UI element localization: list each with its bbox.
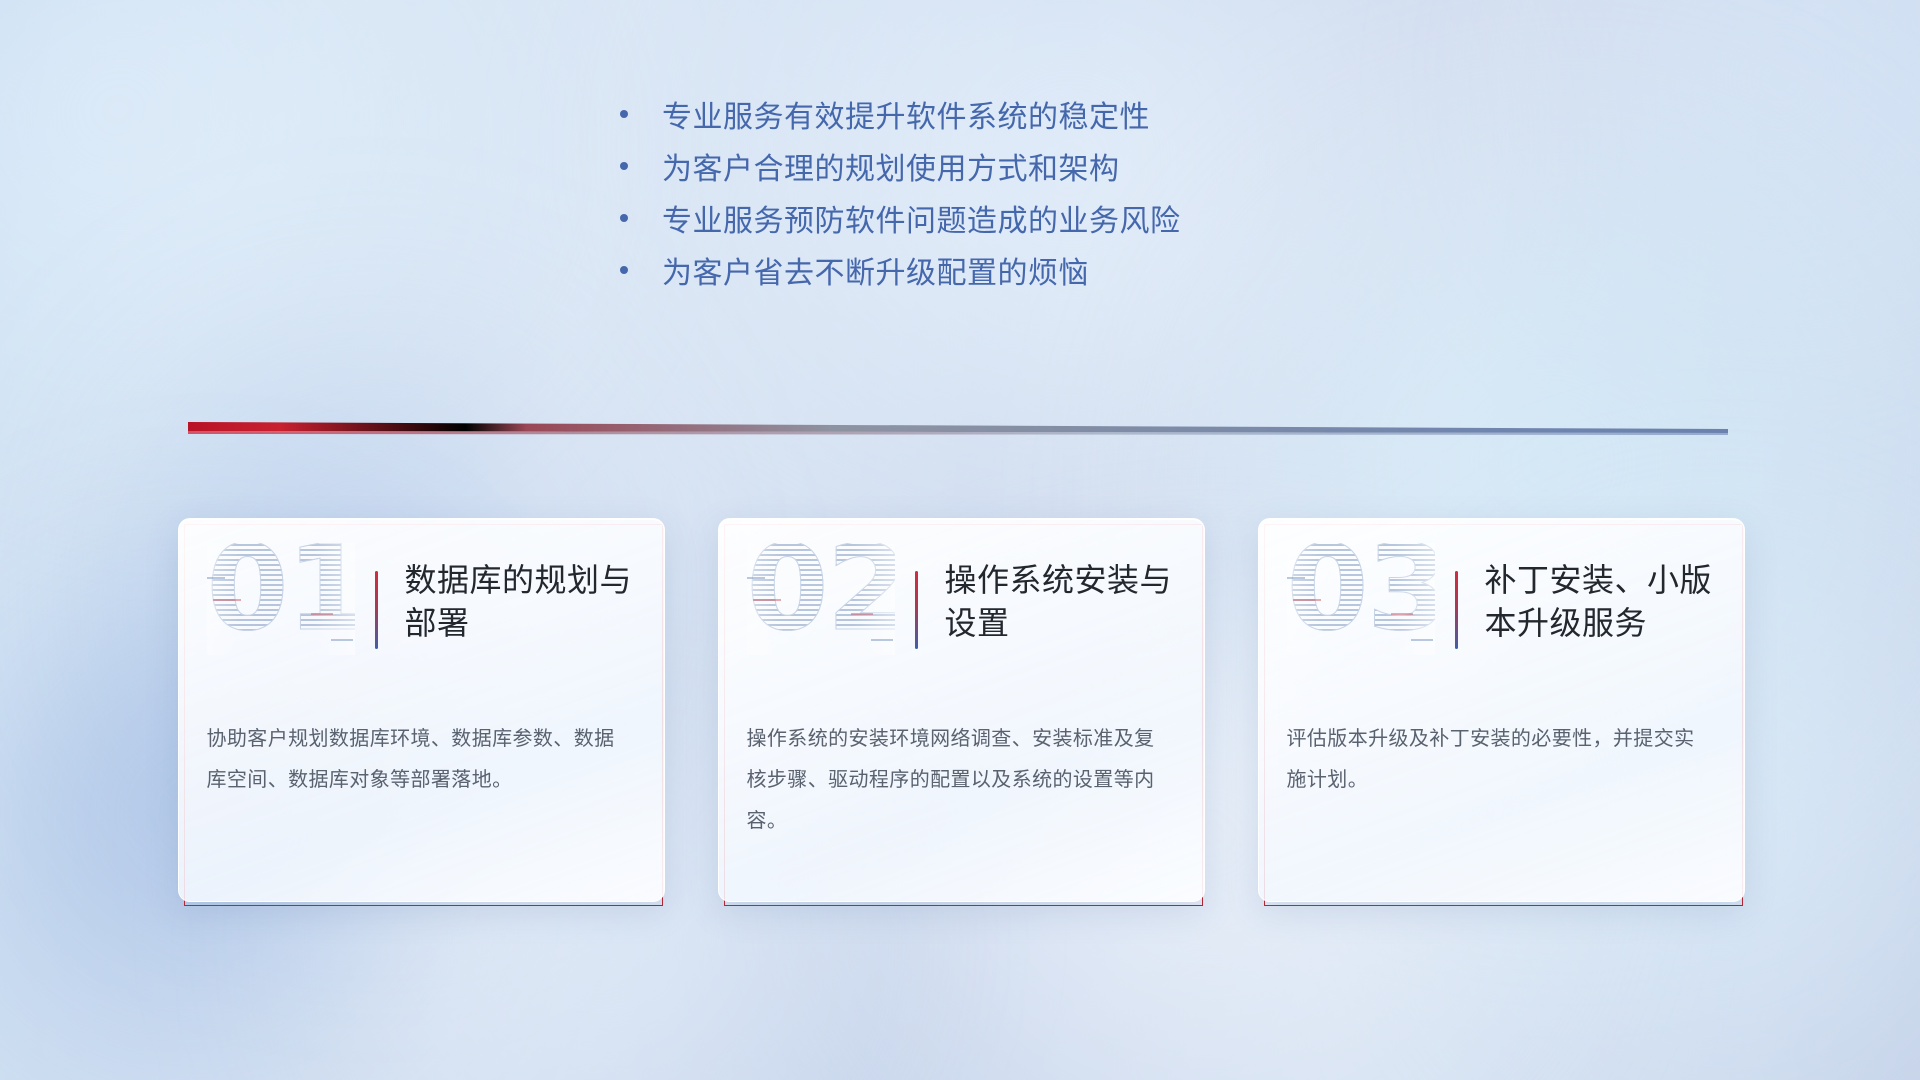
card-title: 数据库的规划与部署 [405,559,645,645]
number-tick-mark [871,639,893,641]
bullet-dot-icon [620,162,628,170]
card-header: 03 补丁安装、小版本升级服务 [1259,519,1744,705]
card-header: 02 操作系统安装与设置 [719,519,1204,705]
card-surface: 02 操作系统安装与设置 操作系统的安装环境网络调查、安装标准及复核步骤、驱动程… [718,518,1205,902]
card-number-text: 03 [1287,543,1435,647]
number-tick-mark [311,613,333,615]
card-number-watermark: 02 [747,543,895,655]
card-title-rule [915,571,918,649]
card-description: 操作系统的安装环境网络调查、安装标准及复核步骤、驱动程序的配置以及系统的设置等内… [747,719,1165,842]
service-card-list: 01 数据库的规划与部署 协助客户规划数据库环境、数据库参数、数据库空间、数据库… [0,518,1920,906]
number-tick-mark [1293,599,1321,601]
card-number-text: 02 [747,543,895,647]
card-number-watermark: 03 [1287,543,1435,655]
card-surface: 01 数据库的规划与部署 协助客户规划数据库环境、数据库参数、数据库空间、数据库… [178,518,665,902]
number-tick-mark [213,599,241,601]
list-item: 专业服务有效提升软件系统的稳定性 [620,88,1300,140]
gradient-wedge-divider [188,420,1728,444]
number-tick-mark [851,613,873,615]
number-tick-mark [207,577,225,579]
bullet-text: 为客户省去不断升级配置的烦恼 [662,248,1089,292]
list-item: 为客户合理的规划使用方式和架构 [620,140,1300,192]
service-card[interactable]: 01 数据库的规划与部署 协助客户规划数据库环境、数据库参数、数据库空间、数据库… [178,518,663,906]
bullet-dot-icon [620,110,628,118]
card-description: 评估版本升级及补丁安装的必要性，并提交实施计划。 [1287,719,1705,801]
benefits-bullet-list: 专业服务有效提升软件系统的稳定性 为客户合理的规划使用方式和架构 专业服务预防软… [0,88,1920,296]
card-title-rule [375,571,378,649]
bullet-dot-icon [620,214,628,222]
bullet-text: 专业服务有效提升软件系统的稳定性 [662,92,1150,136]
card-number-text: 01 [207,543,355,647]
card-surface: 03 补丁安装、小版本升级服务 评估版本升级及补丁安装的必要性，并提交实施计划。 [1258,518,1745,902]
bullet-dot-icon [620,266,628,274]
service-card[interactable]: 03 补丁安装、小版本升级服务 评估版本升级及补丁安装的必要性，并提交实施计划。 [1258,518,1743,906]
divider-shape-icon [188,420,1728,444]
card-title: 补丁安装、小版本升级服务 [1485,559,1725,645]
card-title: 操作系统安装与设置 [945,559,1185,645]
number-tick-mark [1411,639,1433,641]
service-card[interactable]: 02 操作系统安装与设置 操作系统的安装环境网络调查、安装标准及复核步骤、驱动程… [718,518,1203,906]
bullet-text: 专业服务预防软件问题造成的业务风险 [662,196,1181,240]
list-item: 专业服务预防软件问题造成的业务风险 [620,192,1300,244]
card-title-rule [1455,571,1458,649]
list-item: 为客户省去不断升级配置的烦恼 [620,244,1300,296]
number-tick-mark [331,639,353,641]
card-header: 01 数据库的规划与部署 [179,519,664,705]
bullet-text: 为客户合理的规划使用方式和架构 [662,144,1120,188]
number-tick-mark [1391,613,1413,615]
number-tick-mark [1287,577,1305,579]
number-tick-mark [753,599,781,601]
card-number-watermark: 01 [207,543,355,655]
card-description: 协助客户规划数据库环境、数据库参数、数据库空间、数据库对象等部署落地。 [207,719,625,801]
number-tick-mark [747,577,765,579]
